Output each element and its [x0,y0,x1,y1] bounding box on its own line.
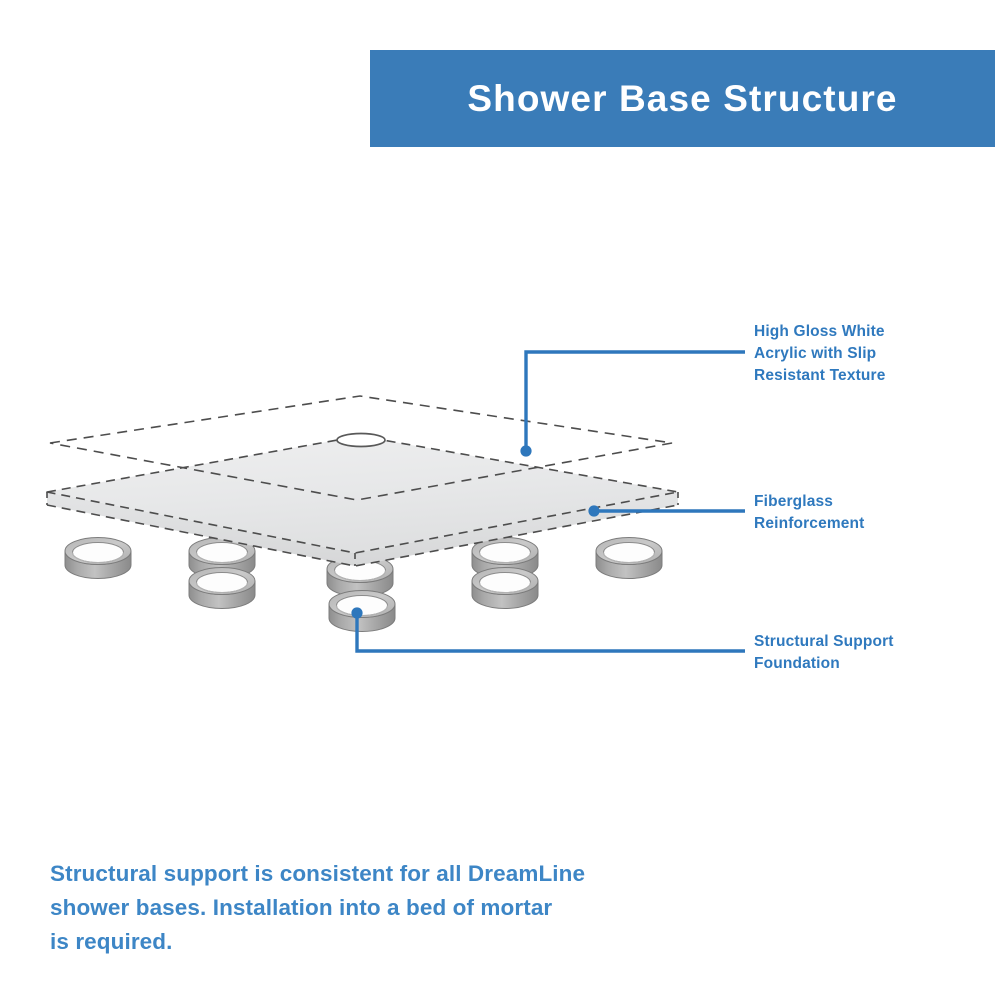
footer-caption: Structural support is consistent for all… [50,857,690,960]
callout-line: Acrylic with Slip [754,345,876,362]
leader-dot-acrylic [520,445,531,456]
page-root: Shower Base Structure [0,0,1000,1000]
drain-opening-icon [337,434,385,447]
callout-line: Reinforcement [754,515,864,532]
leader-line-support [351,607,745,651]
callout-line: Fiberglass [754,493,833,510]
callout-line: High Gloss White [754,323,885,340]
support-ring [596,538,662,579]
fiberglass-slab [47,436,678,566]
caption-line: is required. [50,925,690,959]
support-ring [472,568,538,609]
callout-line: Structural Support [754,633,894,650]
leader-dot-fiberglass [588,505,599,516]
callout-label-support: Structural Support Foundation [754,631,894,675]
callout-line: Foundation [754,655,840,672]
support-ring [189,568,255,609]
leader-line-acrylic [520,352,745,457]
callout-label-acrylic: High Gloss White Acrylic with Slip Resis… [754,321,885,387]
support-ring [65,538,131,579]
callout-line: Resistant Texture [754,367,885,384]
callout-label-fiberglass: Fiberglass Reinforcement [754,491,864,535]
caption-line: Structural support is consistent for all… [50,857,690,891]
leader-dot-support [351,607,362,618]
caption-line: shower bases. Installation into a bed of… [50,891,690,925]
